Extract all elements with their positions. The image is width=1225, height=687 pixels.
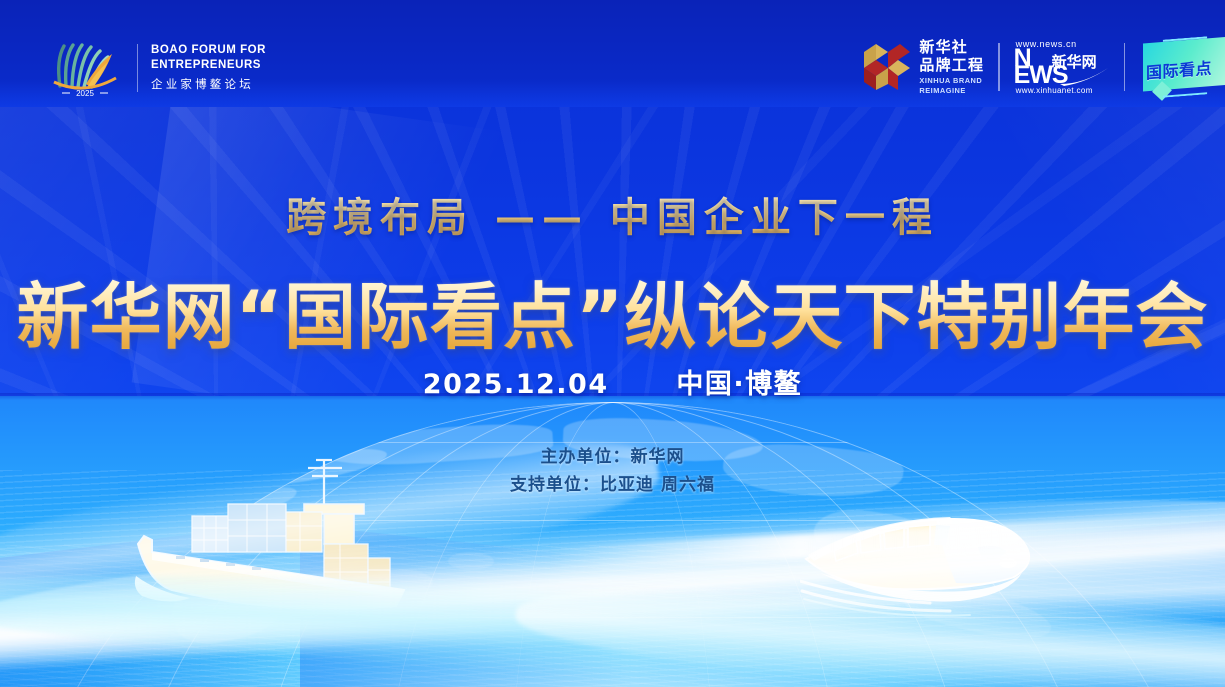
xinhua-brand-en1: XINHUA BRAND (919, 77, 984, 84)
boao-forum-wordmark: BOAO FORUM FOR ENTREPRENEURS 企业家博鳌论坛 (137, 44, 266, 92)
boao-fan-logo-icon: 2025 (46, 38, 124, 98)
event-credits: 主办单位：新华网 支持单位：比亚迪 周六福 (0, 443, 1225, 499)
event-title: 新华网“国际看点”纵论天下特别年会 (0, 258, 1225, 363)
xinhuanet-logo: www.news.cn N EWS 新华网 www.xinhuanet.com (1014, 39, 1110, 95)
event-subtitle: 跨境布局 —— 中国企业下一程 (0, 185, 1225, 243)
boao-forum-line1: BOAO FORUM FOR (151, 44, 266, 58)
xinhua-brand-diamond-icon (864, 44, 910, 90)
high-speed-train-illustration (800, 495, 1100, 635)
event-backdrop-stage: 2025 BOAO FORUM FOR ENTREPRENEURS 企业家博鳌论… (0, 0, 1225, 687)
xinhua-brand-wordmark: 新华社 品牌工程 XINHUA BRAND REIMAGINE (919, 40, 984, 94)
event-date-location: 2025.12.04 中国·博鳌 (0, 362, 1225, 401)
xinhua-brand-cn1: 新华社 (919, 40, 984, 55)
boao-forum-line-cn: 企业家博鳌论坛 (151, 76, 266, 92)
partner-logos: 新华社 品牌工程 XINHUA BRAND REIMAGINE www.news… (864, 36, 1225, 98)
event-location: 中国·博鳌 (676, 369, 802, 400)
logo-divider (1124, 43, 1125, 91)
credit-organizer: 主办单位：新华网 (0, 443, 1225, 471)
globe-continent (448, 552, 494, 570)
svg-text:2025: 2025 (76, 89, 94, 98)
xinhuanet-url-bottom: www.xinhuanet.com (1016, 86, 1093, 95)
event-date: 2025.12.04 (423, 369, 609, 400)
header-logo-bar: 2025 BOAO FORUM FOR ENTREPRENEURS 企业家博鳌论… (0, 0, 1225, 107)
credit-supporters: 支持单位：比亚迪 周六福 (0, 471, 1225, 499)
guoji-kandian-badge: 国际看点 (1139, 38, 1225, 96)
boao-forum-line2: ENTREPRENEURS (151, 59, 266, 73)
boao-forum-logo: 2025 BOAO FORUM FOR ENTREPRENEURS 企业家博鳌论… (46, 38, 266, 98)
xinhua-brand-cn2: 品牌工程 (919, 58, 984, 73)
xinhua-brand-en2: REIMAGINE (919, 87, 984, 94)
xinhuanet-swoosh-icon (1058, 66, 1110, 88)
xinhua-brand-logo: 新华社 品牌工程 XINHUA BRAND REIMAGINE (864, 40, 984, 94)
logo-divider (998, 43, 999, 91)
